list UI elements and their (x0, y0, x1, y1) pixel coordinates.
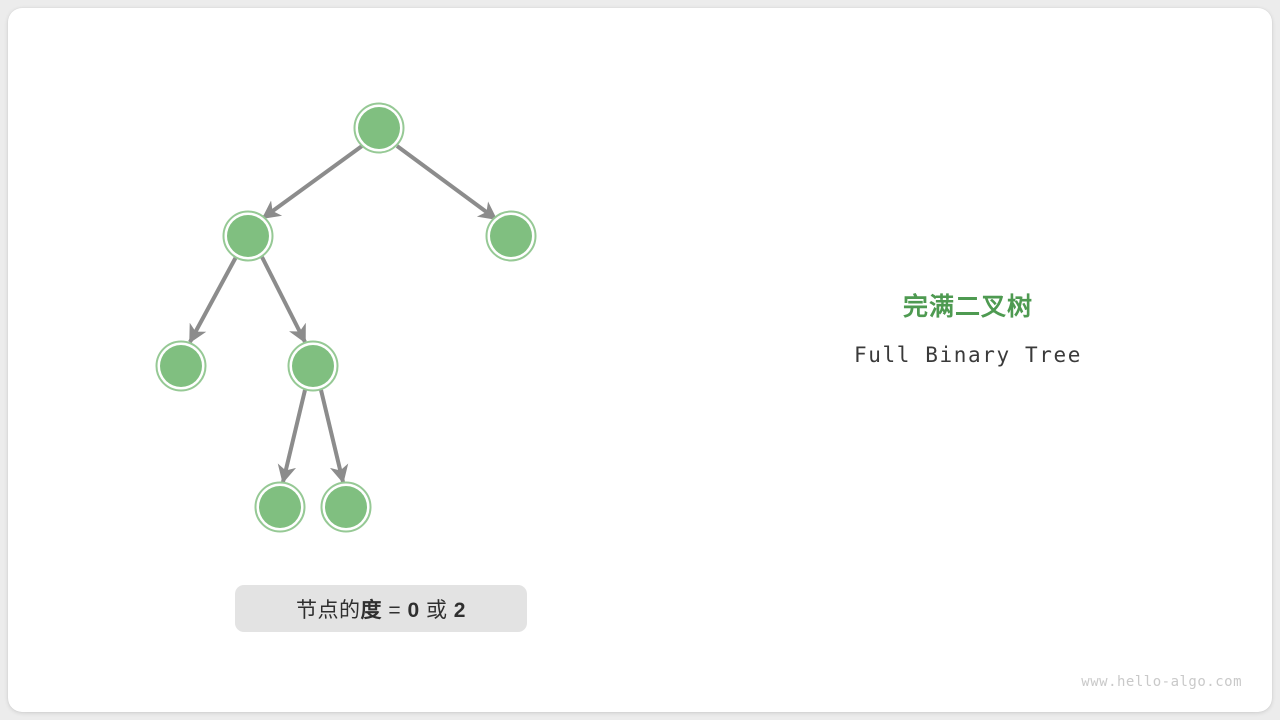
badge-value-a: 0 (407, 599, 419, 622)
tree-edge (283, 390, 305, 482)
figure-stage: 完满二叉树 Full Binary Tree 节点的度 = 0 或 2 www.… (0, 0, 1280, 720)
tree-node-leaf-right[interactable] (322, 483, 371, 532)
tree-node-right[interactable] (487, 212, 536, 261)
tree-edge (190, 257, 236, 342)
tree-edge (397, 146, 496, 219)
degree-annotation-badge: 节点的度 = 0 或 2 (235, 585, 527, 632)
caption-block: 完满二叉树 Full Binary Tree (760, 292, 1176, 367)
caption-subtitle: Full Binary Tree (760, 343, 1176, 367)
tree-nodes (157, 104, 536, 532)
tree-edge (321, 390, 343, 482)
badge-equals: = (382, 599, 407, 622)
badge-value-b: 2 (454, 599, 466, 622)
tree-node-left-right[interactable] (289, 342, 338, 391)
tree-edges (190, 146, 496, 482)
tree-node-left[interactable] (224, 212, 273, 261)
caption-title: 完满二叉树 (760, 292, 1176, 323)
tree-node-root[interactable] (355, 104, 404, 153)
badge-conjunction: 或 (420, 599, 454, 622)
tree-node-left-left[interactable] (157, 342, 206, 391)
tree-node-leaf-left[interactable] (256, 483, 305, 532)
watermark: www.hello-algo.com (0, 674, 1242, 690)
degree-annotation-text: 节点的度 = 0 或 2 (296, 594, 466, 624)
tree-edge (263, 146, 362, 218)
tree-edge (262, 257, 305, 342)
badge-prefix: 节点的 (296, 599, 361, 622)
badge-bold-term: 度 (361, 599, 383, 622)
